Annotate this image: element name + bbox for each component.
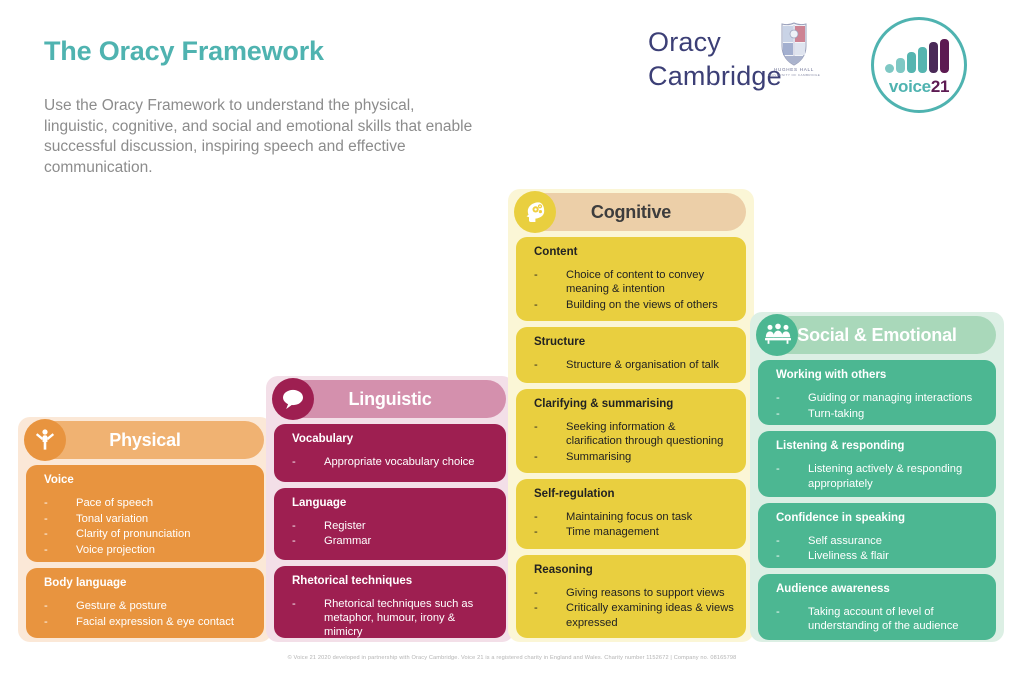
- card-title: Audience awareness: [776, 583, 890, 595]
- card-bullet-item: -Turn-taking: [776, 407, 984, 421]
- bullet-text: Liveliness & flair: [808, 550, 889, 562]
- card-title: Content: [534, 246, 577, 258]
- bullet-text: Structure & organisation of talk: [566, 359, 719, 371]
- card-bullet-item: -Self assurance: [776, 534, 984, 548]
- strand-card[interactable]: Listening & responding-Listening activel…: [758, 431, 996, 496]
- bullet-text: Critically examining ideas & views expre…: [566, 602, 734, 628]
- strand-card[interactable]: Voice-Pace of speech-Tonal variation-Cla…: [26, 465, 264, 562]
- card-bullet-list: -Taking account of level of understandin…: [776, 605, 984, 635]
- strand-physical[interactable]: PhysicalVoice-Pace of speech-Tonal varia…: [18, 417, 272, 642]
- bullet-text: Turn-taking: [808, 408, 864, 420]
- bullet-dash: -: [776, 605, 780, 619]
- bullet-dash: -: [534, 601, 538, 615]
- bullet-dash: -: [44, 543, 48, 557]
- strand-title-cognitive: Cognitive: [516, 193, 746, 231]
- bullet-text: Rhetorical techniques such as metaphor, …: [324, 598, 473, 638]
- bullet-dash: -: [292, 519, 296, 533]
- card-bullet-item: -Facial expression & eye contact: [44, 615, 252, 629]
- bullet-dash: -: [534, 450, 538, 464]
- card-title: Voice: [44, 474, 74, 486]
- card-title: Confidence in speaking: [776, 512, 905, 524]
- card-title: Reasoning: [534, 564, 593, 576]
- strand-card[interactable]: Clarifying & summarising-Seeking informa…: [516, 389, 746, 473]
- card-bullet-item: -Tonal variation: [44, 512, 252, 526]
- card-bullet-item: -Giving reasons to support views: [534, 586, 734, 600]
- card-bullet-item: -Seeking information & clarification thr…: [534, 420, 734, 448]
- bullet-text: Seeking information & clarification thro…: [566, 421, 723, 447]
- card-bullet-list: -Gesture & posture-Facial expression & e…: [44, 599, 252, 630]
- bullet-text: Pace of speech: [76, 497, 153, 509]
- card-bullet-item: -Maintaining focus on task: [534, 510, 734, 524]
- footer-copyright: © Voice 21 2020 developed in partnership…: [0, 655, 1024, 661]
- card-bullet-item: -Gesture & posture: [44, 599, 252, 613]
- bullet-dash: -: [44, 512, 48, 526]
- card-bullet-item: -Choice of content to convey meaning & i…: [534, 268, 734, 296]
- card-bullet-list: -Giving reasons to support views-Critica…: [534, 586, 734, 632]
- strand-social[interactable]: Social & EmotionalWorking with others-Gu…: [750, 312, 1004, 642]
- card-bullet-item: -Rhetorical techniques such as metaphor,…: [292, 597, 494, 640]
- bullet-dash: -: [292, 534, 296, 548]
- card-title: Language: [292, 497, 346, 509]
- strand-card[interactable]: Content-Choice of content to convey mean…: [516, 237, 746, 321]
- bullet-dash: -: [534, 510, 538, 524]
- card-bullet-list: -Guiding or managing interactions-Turn-t…: [776, 391, 984, 422]
- bullet-text: Gesture & posture: [76, 600, 167, 612]
- card-title: Rhetorical techniques: [292, 575, 412, 587]
- bullet-dash: -: [534, 586, 538, 600]
- card-bullet-item: -Building on the views of others: [534, 298, 734, 312]
- card-title: Listening & responding: [776, 440, 904, 452]
- strand-card[interactable]: Body language-Gesture & posture-Facial e…: [26, 568, 264, 638]
- card-title: Structure: [534, 336, 585, 348]
- strand-title-linguistic: Linguistic: [274, 380, 506, 418]
- card-bullet-item: -Taking account of level of understandin…: [776, 605, 984, 633]
- strand-card[interactable]: Structure-Structure & organisation of ta…: [516, 327, 746, 383]
- bullet-dash: -: [534, 420, 538, 434]
- card-bullet-item: -Listening actively & responding appropr…: [776, 462, 984, 490]
- strand-linguistic[interactable]: LinguisticVocabulary-Appropriate vocabul…: [266, 376, 514, 642]
- card-bullet-list: -Structure & organisation of talk: [534, 358, 734, 374]
- strand-card[interactable]: Rhetorical techniques-Rhetorical techniq…: [274, 566, 506, 638]
- bullet-text: Grammar: [324, 535, 371, 547]
- card-bullet-item: -Clarity of pronunciation: [44, 527, 252, 541]
- card-bullet-item: -Appropriate vocabulary choice: [292, 455, 494, 469]
- card-bullet-item: -Structure & organisation of talk: [534, 358, 734, 372]
- card-bullet-item: -Voice projection: [44, 543, 252, 557]
- bullet-text: Appropriate vocabulary choice: [324, 456, 475, 468]
- strand-header-cognitive[interactable]: Cognitive: [516, 193, 746, 231]
- strand-card[interactable]: Working with others-Guiding or managing …: [758, 360, 996, 425]
- card-title: Vocabulary: [292, 433, 353, 445]
- strand-title-physical: Physical: [26, 421, 264, 459]
- bullet-dash: -: [776, 391, 780, 405]
- card-title: Self-regulation: [534, 488, 615, 500]
- card-bullet-item: -Critically examining ideas & views expr…: [534, 601, 734, 629]
- bullet-dash: -: [44, 496, 48, 510]
- bullet-dash: -: [776, 462, 780, 476]
- card-bullet-list: -Maintaining focus on task-Time manageme…: [534, 510, 734, 541]
- bullet-text: Voice projection: [76, 544, 155, 556]
- bullet-dash: -: [44, 527, 48, 541]
- strand-card[interactable]: Self-regulation-Maintaining focus on tas…: [516, 479, 746, 549]
- strand-header-social[interactable]: Social & Emotional: [758, 316, 996, 354]
- card-bullet-list: -Pace of speech-Tonal variation-Clarity …: [44, 496, 252, 559]
- card-bullet-item: -Summarising: [534, 450, 734, 464]
- strand-card[interactable]: Audience awareness-Taking account of lev…: [758, 574, 996, 639]
- bullet-dash: -: [534, 268, 538, 282]
- card-bullet-item: -Grammar: [292, 534, 494, 548]
- strand-card[interactable]: Vocabulary-Appropriate vocabulary choice: [274, 424, 506, 482]
- bullet-dash: -: [292, 455, 296, 469]
- bullet-text: Register: [324, 520, 366, 532]
- strand-title-social: Social & Emotional: [758, 316, 996, 354]
- bullet-dash: -: [534, 525, 538, 539]
- card-bullet-list: -Listening actively & responding appropr…: [776, 462, 984, 492]
- card-bullet-list: -Self assurance-Liveliness & flair: [776, 534, 984, 565]
- strand-card[interactable]: Language-Register-Grammar: [274, 488, 506, 560]
- card-bullet-list: -Rhetorical techniques such as metaphor,…: [292, 597, 494, 641]
- card-bullet-item: -Time management: [534, 525, 734, 539]
- bullet-text: Choice of content to convey meaning & in…: [566, 269, 704, 295]
- bullet-text: Summarising: [566, 451, 631, 463]
- card-bullet-list: -Choice of content to convey meaning & i…: [534, 268, 734, 314]
- bullet-text: Self assurance: [808, 535, 882, 547]
- bullet-dash: -: [44, 599, 48, 613]
- card-bullet-list: -Appropriate vocabulary choice: [292, 455, 494, 471]
- bullet-dash: -: [776, 534, 780, 548]
- card-bullet-item: -Guiding or managing interactions: [776, 391, 984, 405]
- card-title: Body language: [44, 577, 126, 589]
- strand-cognitive[interactable]: CognitiveContent-Choice of content to co…: [508, 189, 754, 642]
- bullet-text: Tonal variation: [76, 513, 148, 525]
- bullet-text: Facial expression & eye contact: [76, 616, 234, 628]
- strand-card[interactable]: Reasoning-Giving reasons to support view…: [516, 555, 746, 639]
- card-bullet-item: -Pace of speech: [44, 496, 252, 510]
- bullet-dash: -: [776, 407, 780, 421]
- bullet-dash: -: [534, 298, 538, 312]
- bullet-dash: -: [292, 597, 296, 611]
- strand-card[interactable]: Confidence in speaking-Self assurance-Li…: [758, 503, 996, 568]
- bullet-dash: -: [776, 549, 780, 563]
- bullet-text: Maintaining focus on task: [566, 511, 692, 523]
- bullet-dash: -: [534, 358, 538, 372]
- strand-header-physical[interactable]: Physical: [26, 421, 264, 459]
- bullet-dash: -: [44, 615, 48, 629]
- bullet-text: Guiding or managing interactions: [808, 392, 972, 404]
- bullet-text: Taking account of level of understanding…: [808, 606, 959, 632]
- card-bullet-list: -Register-Grammar: [292, 519, 494, 550]
- card-title: Clarifying & summarising: [534, 398, 673, 410]
- bullet-text: Listening actively & responding appropri…: [808, 463, 962, 489]
- card-bullet-list: -Seeking information & clarification thr…: [534, 420, 734, 466]
- bullet-text: Clarity of pronunciation: [76, 528, 190, 540]
- oracy-framework-strands: PhysicalVoice-Pace of speech-Tonal varia…: [0, 0, 1024, 682]
- card-title: Working with others: [776, 369, 886, 381]
- bullet-text: Building on the views of others: [566, 299, 718, 311]
- bullet-text: Time management: [566, 526, 659, 538]
- bullet-text: Giving reasons to support views: [566, 587, 725, 599]
- card-bullet-item: -Register: [292, 519, 494, 533]
- strand-header-linguistic[interactable]: Linguistic: [274, 380, 506, 418]
- card-bullet-item: -Liveliness & flair: [776, 549, 984, 563]
